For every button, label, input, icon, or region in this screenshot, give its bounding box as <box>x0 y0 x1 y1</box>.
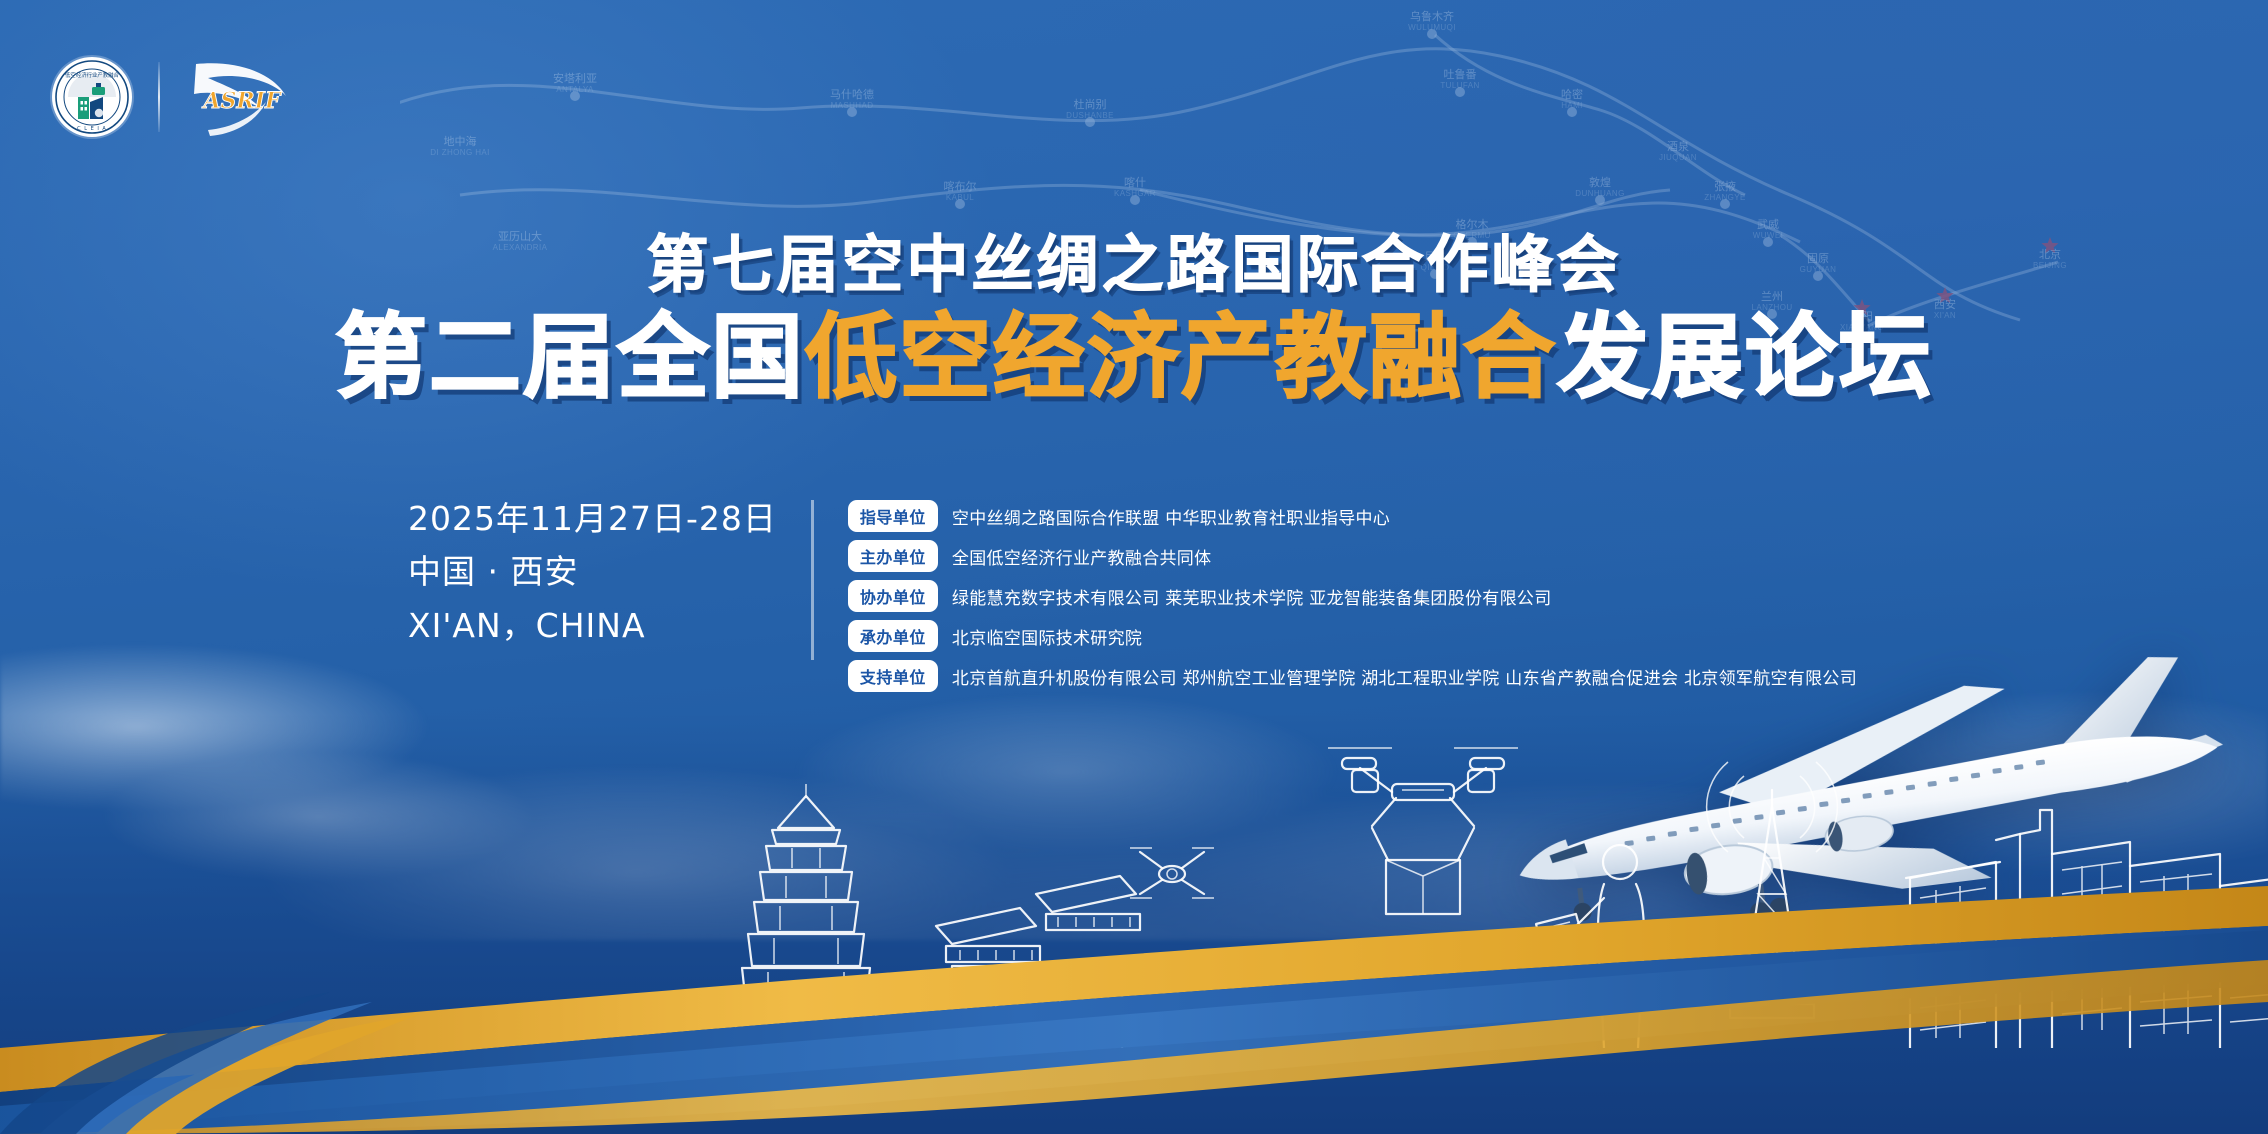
map-city-label-en: KABUL <box>946 193 974 202</box>
bottom-ribbon-decoration <box>0 834 2268 1134</box>
organizer-row: 指导单位空中丝绸之路国际合作联盟 中华职业教育社职业指导中心 <box>848 500 1857 532</box>
organizer-tag: 主办单位 <box>848 540 938 572</box>
svg-text:C L E I A: C L E I A <box>77 126 107 132</box>
map-city-label-en: ANTALYA <box>556 85 594 94</box>
organizer-row: 主办单位全国低空经济行业产教融合共同体 <box>848 540 1857 572</box>
event-city-en: XI'AN，CHINA <box>408 599 777 652</box>
asrif-wing-icon: ASRIF <box>186 56 296 138</box>
organizer-row: 承办单位北京临空国际技术研究院 <box>848 620 1857 652</box>
organizer-row: 协办单位绿能慧充数字技术有限公司 莱芜职业技术学院 亚龙智能装备集团股份有限公司 <box>848 580 1857 612</box>
organizer-tag: 协办单位 <box>848 580 938 612</box>
event-date-location: 2025年11月27日-28日 中国 · 西安 XI'AN，CHINA <box>408 492 777 652</box>
asrif-logo: ASRIF <box>186 56 296 138</box>
map-city-label-cn: 乌鲁木齐 <box>1410 9 1454 23</box>
map-city-label-cn: 哈密 <box>1561 87 1583 101</box>
map-city-label-cn: 地中海 <box>444 134 477 148</box>
map-city-label-en: MASHHAD <box>831 101 874 110</box>
title-line-2-part3: 发展论坛 <box>1557 304 1933 411</box>
organizer-value: 空中丝绸之路国际合作联盟 中华职业教育社职业指导中心 <box>952 504 1390 529</box>
map-city-label-en: WULUMUQI <box>1408 23 1456 32</box>
map-city-label-en: JIUQUAN <box>1659 153 1697 162</box>
organizer-value: 绿能慧充数字技术有限公司 莱芜职业技术学院 亚龙智能装备集团股份有限公司 <box>952 584 1552 609</box>
event-city-cn: 中国 · 西安 <box>408 545 777 598</box>
asrif-logo-text: ASRIF <box>201 88 282 114</box>
logo-divider <box>158 62 160 132</box>
logo-group: 低空经济行业产教融合 C L E I A ASRIF <box>52 56 296 138</box>
map-city-label-cn: 吐鲁番 <box>1444 67 1477 81</box>
vertical-divider <box>811 500 814 660</box>
organizer-tag: 承办单位 <box>848 620 938 652</box>
cleia-emblem-logo: 低空经济行业产教融合 C L E I A <box>52 57 132 137</box>
map-city-label-en: KASHGAR <box>1114 189 1156 198</box>
map-city-label-cn: 喀什 <box>1124 176 1146 189</box>
map-city-label-en: TULUFAN <box>1440 81 1479 90</box>
title-line-2-part2: 低空经济产教融合 <box>805 304 1557 411</box>
map-city-label-en: HAMI <box>1561 101 1583 110</box>
organizer-tag: 指导单位 <box>848 500 938 532</box>
title-line-1: 第七届空中丝绸之路国际合作峰会 <box>0 232 2268 297</box>
organizer-value: 全国低空经济行业产教融合共同体 <box>952 544 1212 569</box>
map-city-label-en: DI ZHONG HAI <box>430 148 489 157</box>
event-info-row: 2025年11月27日-28日 中国 · 西安 XI'AN，CHINA 指导单位… <box>408 492 1857 692</box>
map-city-label-en: DUNHUANG <box>1575 189 1624 198</box>
organizer-list: 指导单位空中丝绸之路国际合作联盟 中华职业教育社职业指导中心主办单位全国低空经济… <box>848 492 1857 692</box>
map-city-label-cn: 杜尚别 <box>1074 97 1107 111</box>
map-city-label-en: ZHANGYE <box>1704 193 1745 202</box>
map-city-label-en: DUSHANBE <box>1066 111 1114 120</box>
title-line-2-part1: 第二届全国 <box>335 304 805 411</box>
event-date: 2025年11月27日-28日 <box>408 492 777 545</box>
map-city-label-cn: 酒泉 <box>1667 139 1689 153</box>
map-city-label-cn: 张掖 <box>1714 179 1736 193</box>
map-city-label-cn: 武威 <box>1757 218 1779 231</box>
title-block: 第七届空中丝绸之路国际合作峰会 第二届全国低空经济产教融合发展论坛 <box>0 232 2268 405</box>
title-line-2: 第二届全国低空经济产教融合发展论坛 <box>0 311 2268 405</box>
map-city-label-cn: 敦煌 <box>1589 175 1611 189</box>
map-city-label-cn: 喀布尔 <box>944 180 977 193</box>
organizer-tag: 支持单位 <box>848 660 938 692</box>
cleia-emblem-icon: 低空经济行业产教融合 C L E I A <box>52 57 132 137</box>
map-city-label-cn: 安塔利亚 <box>553 71 597 85</box>
conference-banner: 地中海DI ZHONG HAI安塔利亚ANTALYA亚历山大ALEXANDRIA… <box>0 0 2268 1134</box>
map-city-label-cn: 马什哈德 <box>830 87 874 101</box>
organizer-value: 北京临空国际技术研究院 <box>952 624 1142 649</box>
svg-text:低空经济行业产教融合: 低空经济行业产教融合 <box>65 71 120 79</box>
